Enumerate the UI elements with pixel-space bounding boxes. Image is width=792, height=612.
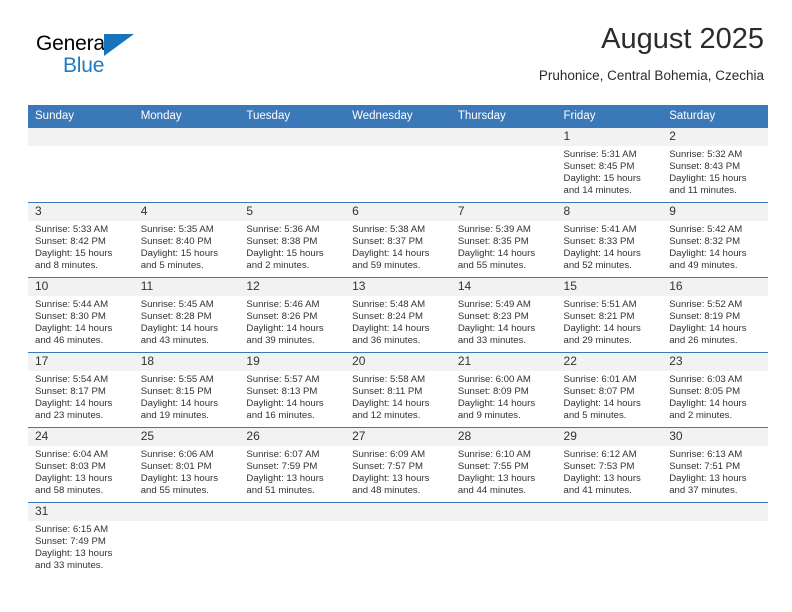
sunrise-text: Sunrise: 5:54 AM xyxy=(35,374,130,386)
day-number: 7 xyxy=(451,203,557,221)
sunset-text: Sunset: 8:19 PM xyxy=(669,311,764,323)
calendar-cell-day-5[interactable]: 5Sunrise: 5:36 AMSunset: 8:38 PMDaylight… xyxy=(239,203,345,278)
calendar-week-row: 17Sunrise: 5:54 AMSunset: 8:17 PMDayligh… xyxy=(28,353,768,428)
day-number xyxy=(134,128,240,146)
logo-text-general: General xyxy=(36,32,109,56)
day-number: 25 xyxy=(134,428,240,446)
daylight-text: Daylight: 13 hours and 37 minutes. xyxy=(669,473,764,497)
sunrise-text: Sunrise: 5:57 AM xyxy=(246,374,341,386)
calendar-cell-empty xyxy=(662,503,768,584)
calendar-cell-day-4[interactable]: 4Sunrise: 5:35 AMSunset: 8:40 PMDaylight… xyxy=(134,203,240,278)
calendar-cell-day-20[interactable]: 20Sunrise: 5:58 AMSunset: 8:11 PMDayligh… xyxy=(345,353,451,428)
sunrise-text: Sunrise: 6:15 AM xyxy=(35,524,130,536)
sunrise-text: Sunrise: 6:10 AM xyxy=(458,449,553,461)
general-blue-logo: General Blue xyxy=(36,32,156,86)
daylight-text: Daylight: 14 hours and 59 minutes. xyxy=(352,248,447,272)
day-number: 29 xyxy=(557,428,663,446)
sunset-text: Sunset: 7:53 PM xyxy=(564,461,659,473)
sunset-text: Sunset: 8:40 PM xyxy=(141,236,236,248)
day-details: Sunrise: 5:42 AMSunset: 8:32 PMDaylight:… xyxy=(662,221,768,272)
day-number: 19 xyxy=(239,353,345,371)
day-number: 18 xyxy=(134,353,240,371)
calendar-week-row: 31Sunrise: 6:15 AMSunset: 7:49 PMDayligh… xyxy=(28,503,768,584)
daylight-text: Daylight: 15 hours and 11 minutes. xyxy=(669,173,764,197)
daylight-text: Daylight: 14 hours and 2 minutes. xyxy=(669,398,764,422)
calendar-cell-empty xyxy=(134,128,240,203)
sunrise-text: Sunrise: 6:04 AM xyxy=(35,449,130,461)
day-details: Sunrise: 5:51 AMSunset: 8:21 PMDaylight:… xyxy=(557,296,663,347)
day-details: Sunrise: 5:44 AMSunset: 8:30 PMDaylight:… xyxy=(28,296,134,347)
daylight-text: Daylight: 15 hours and 14 minutes. xyxy=(564,173,659,197)
calendar-cell-day-17[interactable]: 17Sunrise: 5:54 AMSunset: 8:17 PMDayligh… xyxy=(28,353,134,428)
day-number xyxy=(134,503,240,521)
day-number: 8 xyxy=(557,203,663,221)
calendar-week-row: 10Sunrise: 5:44 AMSunset: 8:30 PMDayligh… xyxy=(28,278,768,353)
sunset-text: Sunset: 8:26 PM xyxy=(246,311,341,323)
calendar-cell-day-12[interactable]: 12Sunrise: 5:46 AMSunset: 8:26 PMDayligh… xyxy=(239,278,345,353)
calendar-cell-empty xyxy=(451,503,557,584)
day-details: Sunrise: 5:31 AMSunset: 8:45 PMDaylight:… xyxy=(557,146,663,197)
daylight-text: Daylight: 14 hours and 33 minutes. xyxy=(458,323,553,347)
sunset-text: Sunset: 8:33 PM xyxy=(564,236,659,248)
sunrise-text: Sunrise: 6:07 AM xyxy=(246,449,341,461)
sunrise-text: Sunrise: 5:41 AM xyxy=(564,224,659,236)
sunrise-text: Sunrise: 5:38 AM xyxy=(352,224,447,236)
sunrise-text: Sunrise: 5:36 AM xyxy=(246,224,341,236)
day-number: 30 xyxy=(662,428,768,446)
day-details: Sunrise: 5:55 AMSunset: 8:15 PMDaylight:… xyxy=(134,371,240,422)
calendar-cell-empty xyxy=(239,128,345,203)
calendar-cell-day-24[interactable]: 24Sunrise: 6:04 AMSunset: 8:03 PMDayligh… xyxy=(28,428,134,503)
daylight-text: Daylight: 13 hours and 51 minutes. xyxy=(246,473,341,497)
day-details: Sunrise: 6:13 AMSunset: 7:51 PMDaylight:… xyxy=(662,446,768,497)
weekday-header-thursday: Thursday xyxy=(451,105,557,128)
day-details: Sunrise: 5:57 AMSunset: 8:13 PMDaylight:… xyxy=(239,371,345,422)
title-block: August 2025 Pruhonice, Central Bohemia, … xyxy=(539,22,764,84)
day-details: Sunrise: 5:41 AMSunset: 8:33 PMDaylight:… xyxy=(557,221,663,272)
calendar-cell-day-11[interactable]: 11Sunrise: 5:45 AMSunset: 8:28 PMDayligh… xyxy=(134,278,240,353)
day-number: 16 xyxy=(662,278,768,296)
sunrise-text: Sunrise: 6:13 AM xyxy=(669,449,764,461)
day-details: Sunrise: 5:48 AMSunset: 8:24 PMDaylight:… xyxy=(345,296,451,347)
day-number: 15 xyxy=(557,278,663,296)
daylight-text: Daylight: 15 hours and 8 minutes. xyxy=(35,248,130,272)
calendar-cell-day-10[interactable]: 10Sunrise: 5:44 AMSunset: 8:30 PMDayligh… xyxy=(28,278,134,353)
sunset-text: Sunset: 8:01 PM xyxy=(141,461,236,473)
calendar-cell-day-1[interactable]: 1Sunrise: 5:31 AMSunset: 8:45 PMDaylight… xyxy=(557,128,663,203)
day-details: Sunrise: 6:03 AMSunset: 8:05 PMDaylight:… xyxy=(662,371,768,422)
day-number xyxy=(557,503,663,521)
calendar-cell-day-3[interactable]: 3Sunrise: 5:33 AMSunset: 8:42 PMDaylight… xyxy=(28,203,134,278)
sunrise-text: Sunrise: 5:33 AM xyxy=(35,224,130,236)
day-number: 20 xyxy=(345,353,451,371)
calendar-cell-day-16[interactable]: 16Sunrise: 5:52 AMSunset: 8:19 PMDayligh… xyxy=(662,278,768,353)
calendar-week-row: 1Sunrise: 5:31 AMSunset: 8:45 PMDaylight… xyxy=(28,128,768,203)
sunset-text: Sunset: 8:32 PM xyxy=(669,236,764,248)
daylight-text: Daylight: 14 hours and 19 minutes. xyxy=(141,398,236,422)
day-details: Sunrise: 6:01 AMSunset: 8:07 PMDaylight:… xyxy=(557,371,663,422)
daylight-text: Daylight: 15 hours and 5 minutes. xyxy=(141,248,236,272)
sunset-text: Sunset: 8:37 PM xyxy=(352,236,447,248)
daylight-text: Daylight: 14 hours and 46 minutes. xyxy=(35,323,130,347)
day-number: 4 xyxy=(134,203,240,221)
day-number: 21 xyxy=(451,353,557,371)
calendar-cell-empty xyxy=(134,503,240,584)
daylight-text: Daylight: 13 hours and 48 minutes. xyxy=(352,473,447,497)
sunrise-text: Sunrise: 5:46 AM xyxy=(246,299,341,311)
daylight-text: Daylight: 13 hours and 44 minutes. xyxy=(458,473,553,497)
sunset-text: Sunset: 8:45 PM xyxy=(564,161,659,173)
day-number: 1 xyxy=(557,128,663,146)
calendar-cell-day-9[interactable]: 9Sunrise: 5:42 AMSunset: 8:32 PMDaylight… xyxy=(662,203,768,278)
day-number: 27 xyxy=(345,428,451,446)
daylight-text: Daylight: 14 hours and 16 minutes. xyxy=(246,398,341,422)
daylight-text: Daylight: 15 hours and 2 minutes. xyxy=(246,248,341,272)
sunrise-text: Sunrise: 5:32 AM xyxy=(669,149,764,161)
day-number xyxy=(28,128,134,146)
day-number: 9 xyxy=(662,203,768,221)
day-number: 26 xyxy=(239,428,345,446)
day-details: Sunrise: 6:09 AMSunset: 7:57 PMDaylight:… xyxy=(345,446,451,497)
daylight-text: Daylight: 13 hours and 33 minutes. xyxy=(35,548,130,572)
day-details: Sunrise: 5:49 AMSunset: 8:23 PMDaylight:… xyxy=(451,296,557,347)
daylight-text: Daylight: 14 hours and 26 minutes. xyxy=(669,323,764,347)
calendar-cell-day-31[interactable]: 31Sunrise: 6:15 AMSunset: 7:49 PMDayligh… xyxy=(28,503,134,584)
calendar-cell-day-18[interactable]: 18Sunrise: 5:55 AMSunset: 8:15 PMDayligh… xyxy=(134,353,240,428)
day-number: 24 xyxy=(28,428,134,446)
day-number: 23 xyxy=(662,353,768,371)
location-subtitle: Pruhonice, Central Bohemia, Czechia xyxy=(539,68,764,84)
daylight-text: Daylight: 14 hours and 55 minutes. xyxy=(458,248,553,272)
sunrise-text: Sunrise: 5:48 AM xyxy=(352,299,447,311)
page-title: August 2025 xyxy=(539,22,764,56)
calendar-cell-day-29[interactable]: 29Sunrise: 6:12 AMSunset: 7:53 PMDayligh… xyxy=(557,428,663,503)
sunset-text: Sunset: 8:21 PM xyxy=(564,311,659,323)
calendar-cell-empty xyxy=(239,503,345,584)
sunset-text: Sunset: 7:55 PM xyxy=(458,461,553,473)
day-details: Sunrise: 5:39 AMSunset: 8:35 PMDaylight:… xyxy=(451,221,557,272)
blue-triangle-icon xyxy=(104,34,134,56)
sunset-text: Sunset: 8:43 PM xyxy=(669,161,764,173)
sunrise-text: Sunrise: 5:55 AM xyxy=(141,374,236,386)
page-header: General Blue August 2025 Pruhonice, Cent… xyxy=(28,22,764,98)
day-details: Sunrise: 6:12 AMSunset: 7:53 PMDaylight:… xyxy=(557,446,663,497)
day-number: 6 xyxy=(345,203,451,221)
calendar-cell-day-27[interactable]: 27Sunrise: 6:09 AMSunset: 7:57 PMDayligh… xyxy=(345,428,451,503)
sunrise-text: Sunrise: 6:09 AM xyxy=(352,449,447,461)
sunset-text: Sunset: 7:49 PM xyxy=(35,536,130,548)
sunrise-text: Sunrise: 6:03 AM xyxy=(669,374,764,386)
weekday-header-friday: Friday xyxy=(557,105,663,128)
day-details: Sunrise: 5:35 AMSunset: 8:40 PMDaylight:… xyxy=(134,221,240,272)
daylight-text: Daylight: 14 hours and 23 minutes. xyxy=(35,398,130,422)
calendar-cell-day-8[interactable]: 8Sunrise: 5:41 AMSunset: 8:33 PMDaylight… xyxy=(557,203,663,278)
day-details: Sunrise: 5:38 AMSunset: 8:37 PMDaylight:… xyxy=(345,221,451,272)
sunrise-text: Sunrise: 5:45 AM xyxy=(141,299,236,311)
sunset-text: Sunset: 8:24 PM xyxy=(352,311,447,323)
day-number: 5 xyxy=(239,203,345,221)
day-number xyxy=(345,128,451,146)
calendar-cell-empty xyxy=(345,503,451,584)
sunset-text: Sunset: 8:30 PM xyxy=(35,311,130,323)
calendar-cell-day-30[interactable]: 30Sunrise: 6:13 AMSunset: 7:51 PMDayligh… xyxy=(662,428,768,503)
daylight-text: Daylight: 14 hours and 39 minutes. xyxy=(246,323,341,347)
day-number: 2 xyxy=(662,128,768,146)
day-details: Sunrise: 6:06 AMSunset: 8:01 PMDaylight:… xyxy=(134,446,240,497)
calendar-table: SundayMondayTuesdayWednesdayThursdayFrid… xyxy=(28,105,768,583)
sunset-text: Sunset: 8:13 PM xyxy=(246,386,341,398)
sunrise-text: Sunrise: 5:49 AM xyxy=(458,299,553,311)
day-details: Sunrise: 6:10 AMSunset: 7:55 PMDaylight:… xyxy=(451,446,557,497)
sunset-text: Sunset: 8:11 PM xyxy=(352,386,447,398)
daylight-text: Daylight: 14 hours and 5 minutes. xyxy=(564,398,659,422)
sunrise-text: Sunrise: 5:44 AM xyxy=(35,299,130,311)
day-number: 22 xyxy=(557,353,663,371)
sunrise-text: Sunrise: 5:58 AM xyxy=(352,374,447,386)
sunrise-text: Sunrise: 6:00 AM xyxy=(458,374,553,386)
weekday-header-sunday: Sunday xyxy=(28,105,134,128)
day-details: Sunrise: 5:33 AMSunset: 8:42 PMDaylight:… xyxy=(28,221,134,272)
calendar-cell-day-2[interactable]: 2Sunrise: 5:32 AMSunset: 8:43 PMDaylight… xyxy=(662,128,768,203)
sunrise-text: Sunrise: 6:12 AM xyxy=(564,449,659,461)
sunset-text: Sunset: 8:35 PM xyxy=(458,236,553,248)
calendar-week-row: 3Sunrise: 5:33 AMSunset: 8:42 PMDaylight… xyxy=(28,203,768,278)
calendar-week-row: 24Sunrise: 6:04 AMSunset: 8:03 PMDayligh… xyxy=(28,428,768,503)
calendar-cell-day-21[interactable]: 21Sunrise: 6:00 AMSunset: 8:09 PMDayligh… xyxy=(451,353,557,428)
sunrise-text: Sunrise: 5:39 AM xyxy=(458,224,553,236)
daylight-text: Daylight: 14 hours and 29 minutes. xyxy=(564,323,659,347)
weekday-header: SundayMondayTuesdayWednesdayThursdayFrid… xyxy=(28,105,768,128)
sunrise-text: Sunrise: 6:01 AM xyxy=(564,374,659,386)
calendar-body: 1Sunrise: 5:31 AMSunset: 8:45 PMDaylight… xyxy=(28,128,768,583)
calendar-cell-day-22[interactable]: 22Sunrise: 6:01 AMSunset: 8:07 PMDayligh… xyxy=(557,353,663,428)
weekday-header-monday: Monday xyxy=(134,105,240,128)
logo-text-blue: Blue xyxy=(63,54,104,78)
calendar-cell-day-23[interactable]: 23Sunrise: 6:03 AMSunset: 8:05 PMDayligh… xyxy=(662,353,768,428)
sunset-text: Sunset: 8:07 PM xyxy=(564,386,659,398)
day-details: Sunrise: 5:54 AMSunset: 8:17 PMDaylight:… xyxy=(28,371,134,422)
day-number: 12 xyxy=(239,278,345,296)
calendar-cell-empty xyxy=(345,128,451,203)
sunset-text: Sunset: 8:15 PM xyxy=(141,386,236,398)
day-number: 28 xyxy=(451,428,557,446)
sunset-text: Sunset: 7:59 PM xyxy=(246,461,341,473)
daylight-text: Daylight: 14 hours and 36 minutes. xyxy=(352,323,447,347)
day-number xyxy=(451,503,557,521)
day-details: Sunrise: 5:32 AMSunset: 8:43 PMDaylight:… xyxy=(662,146,768,197)
daylight-text: Daylight: 14 hours and 9 minutes. xyxy=(458,398,553,422)
calendar-cell-empty xyxy=(28,128,134,203)
weekday-header-saturday: Saturday xyxy=(662,105,768,128)
weekday-header-wednesday: Wednesday xyxy=(345,105,451,128)
sunrise-text: Sunrise: 5:52 AM xyxy=(669,299,764,311)
daylight-text: Daylight: 13 hours and 41 minutes. xyxy=(564,473,659,497)
day-details: Sunrise: 5:58 AMSunset: 8:11 PMDaylight:… xyxy=(345,371,451,422)
sunset-text: Sunset: 8:03 PM xyxy=(35,461,130,473)
day-number: 13 xyxy=(345,278,451,296)
calendar-cell-empty xyxy=(451,128,557,203)
day-number: 10 xyxy=(28,278,134,296)
calendar-cell-day-25[interactable]: 25Sunrise: 6:06 AMSunset: 8:01 PMDayligh… xyxy=(134,428,240,503)
sunset-text: Sunset: 8:42 PM xyxy=(35,236,130,248)
day-details: Sunrise: 6:04 AMSunset: 8:03 PMDaylight:… xyxy=(28,446,134,497)
daylight-text: Daylight: 13 hours and 55 minutes. xyxy=(141,473,236,497)
sunrise-text: Sunrise: 5:31 AM xyxy=(564,149,659,161)
daylight-text: Daylight: 14 hours and 49 minutes. xyxy=(669,248,764,272)
daylight-text: Daylight: 13 hours and 58 minutes. xyxy=(35,473,130,497)
sunset-text: Sunset: 8:28 PM xyxy=(141,311,236,323)
weekday-header-tuesday: Tuesday xyxy=(239,105,345,128)
calendar-cell-day-28[interactable]: 28Sunrise: 6:10 AMSunset: 7:55 PMDayligh… xyxy=(451,428,557,503)
day-number: 31 xyxy=(28,503,134,521)
day-number xyxy=(345,503,451,521)
day-number: 11 xyxy=(134,278,240,296)
calendar-cell-empty xyxy=(557,503,663,584)
sunset-text: Sunset: 8:09 PM xyxy=(458,386,553,398)
day-number xyxy=(662,503,768,521)
day-details: Sunrise: 5:45 AMSunset: 8:28 PMDaylight:… xyxy=(134,296,240,347)
daylight-text: Daylight: 14 hours and 52 minutes. xyxy=(564,248,659,272)
calendar-cell-day-26[interactable]: 26Sunrise: 6:07 AMSunset: 7:59 PMDayligh… xyxy=(239,428,345,503)
calendar-header-row: SundayMondayTuesdayWednesdayThursdayFrid… xyxy=(28,105,768,128)
day-details: Sunrise: 6:07 AMSunset: 7:59 PMDaylight:… xyxy=(239,446,345,497)
sunrise-text: Sunrise: 5:35 AM xyxy=(141,224,236,236)
sunset-text: Sunset: 8:38 PM xyxy=(246,236,341,248)
sunset-text: Sunset: 8:23 PM xyxy=(458,311,553,323)
calendar-cell-day-15[interactable]: 15Sunrise: 5:51 AMSunset: 8:21 PMDayligh… xyxy=(557,278,663,353)
day-details: Sunrise: 6:15 AMSunset: 7:49 PMDaylight:… xyxy=(28,521,134,572)
sunrise-text: Sunrise: 6:06 AM xyxy=(141,449,236,461)
sunrise-text: Sunrise: 5:51 AM xyxy=(564,299,659,311)
day-number xyxy=(451,128,557,146)
day-number: 17 xyxy=(28,353,134,371)
day-details: Sunrise: 5:46 AMSunset: 8:26 PMDaylight:… xyxy=(239,296,345,347)
sunset-text: Sunset: 8:17 PM xyxy=(35,386,130,398)
calendar-cell-day-6[interactable]: 6Sunrise: 5:38 AMSunset: 8:37 PMDaylight… xyxy=(345,203,451,278)
daylight-text: Daylight: 14 hours and 12 minutes. xyxy=(352,398,447,422)
day-number: 3 xyxy=(28,203,134,221)
calendar-cell-day-14[interactable]: 14Sunrise: 5:49 AMSunset: 8:23 PMDayligh… xyxy=(451,278,557,353)
day-number: 14 xyxy=(451,278,557,296)
day-details: Sunrise: 5:36 AMSunset: 8:38 PMDaylight:… xyxy=(239,221,345,272)
day-number xyxy=(239,128,345,146)
daylight-text: Daylight: 14 hours and 43 minutes. xyxy=(141,323,236,347)
calendar-cell-day-19[interactable]: 19Sunrise: 5:57 AMSunset: 8:13 PMDayligh… xyxy=(239,353,345,428)
sunrise-text: Sunrise: 5:42 AM xyxy=(669,224,764,236)
day-details: Sunrise: 5:52 AMSunset: 8:19 PMDaylight:… xyxy=(662,296,768,347)
sunset-text: Sunset: 7:51 PM xyxy=(669,461,764,473)
sunset-text: Sunset: 8:05 PM xyxy=(669,386,764,398)
day-number xyxy=(239,503,345,521)
sunset-text: Sunset: 7:57 PM xyxy=(352,461,447,473)
calendar-cell-day-7[interactable]: 7Sunrise: 5:39 AMSunset: 8:35 PMDaylight… xyxy=(451,203,557,278)
calendar-page: General Blue August 2025 Pruhonice, Cent… xyxy=(0,0,792,612)
day-details: Sunrise: 6:00 AMSunset: 8:09 PMDaylight:… xyxy=(451,371,557,422)
calendar-cell-day-13[interactable]: 13Sunrise: 5:48 AMSunset: 8:24 PMDayligh… xyxy=(345,278,451,353)
